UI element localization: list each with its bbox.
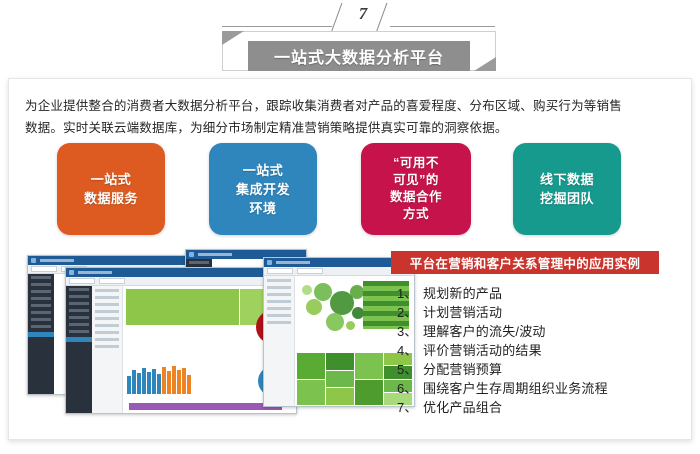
nav-row <box>95 303 119 306</box>
treemap-column <box>297 353 325 405</box>
nav-row <box>31 318 51 321</box>
purple-progress-bar <box>129 403 282 410</box>
treemap-cell <box>326 371 354 388</box>
nav-row <box>31 311 51 314</box>
window-title-placeholder <box>198 253 232 256</box>
list-item: 2、计划营销活动 <box>397 303 673 322</box>
window-tabbar <box>66 277 296 286</box>
list-item-text: 规划新的产品 <box>423 286 502 301</box>
list-item-text: 优化产品组合 <box>423 400 502 415</box>
ribbon-fold-left <box>222 31 244 45</box>
bar <box>127 376 131 394</box>
window-logo-icon <box>267 260 272 265</box>
pill-2-line-2: 集成开发 <box>236 180 290 199</box>
list-item-number: 1、 <box>397 284 423 303</box>
nav-row <box>189 261 209 264</box>
ribbon-fold-right <box>474 57 496 71</box>
list-item: 1、规划新的产品 <box>397 284 673 303</box>
pill-4-line-2: 挖掘团队 <box>540 189 594 208</box>
window-titlebar <box>66 268 296 277</box>
treemap-cell <box>355 353 383 379</box>
pill-3-line-3: 数据合作 <box>390 189 442 206</box>
pill-3-line-2: 可见”的 <box>393 172 439 189</box>
pill-2-line-3: 环境 <box>249 199 276 218</box>
header-slash-right <box>376 3 388 33</box>
bar <box>162 367 166 394</box>
pill-3-line-1: “可用不 <box>393 155 439 172</box>
bubble <box>302 285 312 295</box>
nav-row <box>69 309 89 312</box>
header-slash-left <box>331 3 343 33</box>
bar <box>167 371 171 394</box>
bar <box>147 372 151 394</box>
treemap-cell <box>355 380 383 406</box>
pill-1-line-2: 数据服务 <box>84 189 138 208</box>
nav-row <box>31 290 51 293</box>
treemap-cell <box>297 353 325 379</box>
content-card: 为企业提供整合的消费者大数据分析平台，跟踪收集消费者对产品的喜爱程度、分布区域、… <box>8 78 692 440</box>
window-title-placeholder <box>276 261 310 264</box>
window-titlebar <box>28 256 206 265</box>
tab-item <box>69 278 95 284</box>
nav-row <box>267 307 291 310</box>
pill-available-not-visible-data-cooperation[interactable]: “可用不 可见”的 数据合作 方式 <box>361 143 471 235</box>
list-item-number: 3、 <box>397 322 423 341</box>
nav-row <box>69 288 89 291</box>
nav-row <box>267 293 291 296</box>
list-item: 3、理解客户的流失/波动 <box>397 322 673 341</box>
feature-pill-row: 一站式 数据服务 一站式 集成开发 环境 “可用不 可见”的 数据合作 方式 线… <box>9 143 692 239</box>
sidebar-light <box>264 276 295 407</box>
dashboard-screenshot-collage <box>27 249 397 419</box>
bar <box>132 370 136 394</box>
nav-row <box>31 304 51 307</box>
pill-offline-data-mining-team[interactable]: 线下数据 挖掘团队 <box>513 143 621 235</box>
treemap-cell <box>326 353 354 370</box>
nav-row <box>267 286 291 289</box>
pill-1-line-1: 一站式 <box>91 170 132 189</box>
pill-4-line-1: 线下数据 <box>540 170 594 189</box>
nav-row <box>95 317 119 320</box>
bubble <box>346 321 355 330</box>
nav-row-active <box>28 332 54 337</box>
list-item-number: 6、 <box>397 379 423 398</box>
application-examples-list: 1、规划新的产品 2、计划营销活动 3、理解客户的流失/波动 4、评价营销活动的… <box>397 284 673 417</box>
nav-row <box>69 330 89 333</box>
list-item-number: 7、 <box>397 398 423 417</box>
sidebar-dark <box>28 274 54 395</box>
bubble <box>350 285 364 299</box>
nav-row <box>95 310 119 313</box>
nav-row <box>267 300 291 303</box>
list-item: 6、围绕客户生存周期组织业务流程 <box>397 379 673 398</box>
nav-row <box>31 283 51 286</box>
list-item-number: 4、 <box>397 341 423 360</box>
list-item-text: 评价营销活动的结果 <box>423 343 542 358</box>
list-item-number: 2、 <box>397 303 423 322</box>
tab-item <box>267 268 293 274</box>
nav-row <box>267 279 291 282</box>
nav-row <box>95 331 119 334</box>
bar <box>137 373 141 394</box>
tab-item <box>99 278 125 284</box>
bubble <box>314 283 332 301</box>
window-body <box>66 286 296 414</box>
application-examples-panel: 平台在营销和客户关系管理中的应用实例 1、规划新的产品 2、计划营销活动 3、理… <box>391 251 673 417</box>
nav-row <box>95 338 119 341</box>
nav-row-active <box>66 337 92 342</box>
list-item-text: 计划营销活动 <box>423 305 502 320</box>
bubble <box>306 299 322 315</box>
intro-line-1: 为企业提供整合的消费者大数据分析平台，跟踪收集消费者对产品的喜爱程度、分布区域、… <box>25 95 677 117</box>
tab-item <box>297 268 323 274</box>
treemap-column <box>355 353 383 405</box>
list-item: 7、优化产品组合 <box>397 398 673 417</box>
bar <box>182 368 186 394</box>
bar <box>157 374 161 394</box>
window-title-placeholder <box>78 271 112 274</box>
sidebar-light <box>92 286 123 414</box>
nav-row <box>69 316 89 319</box>
list-item: 4、评价营销活动的结果 <box>397 341 673 360</box>
list-item-number: 5、 <box>397 360 423 379</box>
title-ribbon: 一站式大数据分析平台 <box>222 31 496 71</box>
header-rule-left <box>222 26 332 27</box>
nav-row <box>267 321 291 324</box>
application-examples-header: 平台在营销和客户关系管理中的应用实例 <box>391 251 659 274</box>
bar <box>152 369 156 394</box>
nav-row <box>95 345 119 348</box>
pill-2-line-1: 一站式 <box>243 161 284 180</box>
pill-3-line-4: 方式 <box>403 206 429 223</box>
window-logo-icon <box>189 252 194 257</box>
window-logo-icon <box>69 270 74 275</box>
bar <box>172 366 176 394</box>
list-item-text: 理解客户的流失/波动 <box>423 324 546 339</box>
pill-one-stop-integrated-dev-env[interactable]: 一站式 集成开发 环境 <box>209 143 317 235</box>
nav-row <box>95 324 119 327</box>
treemap-cell <box>297 380 325 406</box>
intro-line-2: 数据。实时关联云端数据库，为细分市场制定精准营销策略提供真实可靠的洞察依据。 <box>25 117 677 139</box>
nav-row <box>267 314 291 317</box>
sidebar-dark <box>66 286 92 414</box>
tab-item <box>31 266 57 272</box>
treemap-cell <box>326 388 354 405</box>
nav-row <box>95 296 119 299</box>
bar <box>142 368 146 394</box>
list-item-text: 分配营销预算 <box>423 362 502 377</box>
list-item-text: 围绕客户生存周期组织业务流程 <box>423 381 608 396</box>
list-item: 5、分配营销预算 <box>397 360 673 379</box>
treemap-column <box>326 353 354 405</box>
bar <box>177 370 181 394</box>
pill-one-stop-data-service[interactable]: 一站式 数据服务 <box>57 143 165 235</box>
bubble <box>326 313 344 331</box>
nav-row <box>31 297 51 300</box>
bar <box>187 375 191 394</box>
header-rule-right <box>390 26 495 27</box>
nav-row <box>69 323 89 326</box>
column-chart <box>127 364 191 394</box>
nav-row <box>69 302 89 305</box>
page-title: 一站式大数据分析平台 <box>248 41 470 71</box>
nav-row <box>31 325 51 328</box>
window-logo-icon <box>31 258 36 263</box>
nav-row <box>95 289 119 292</box>
intro-paragraph: 为企业提供整合的消费者大数据分析平台，跟踪收集消费者对产品的喜爱程度、分布区域、… <box>25 95 677 139</box>
nav-row <box>31 276 51 279</box>
nav-row <box>69 295 89 298</box>
page-number: 7 <box>350 4 376 24</box>
window-title-placeholder <box>40 259 74 262</box>
